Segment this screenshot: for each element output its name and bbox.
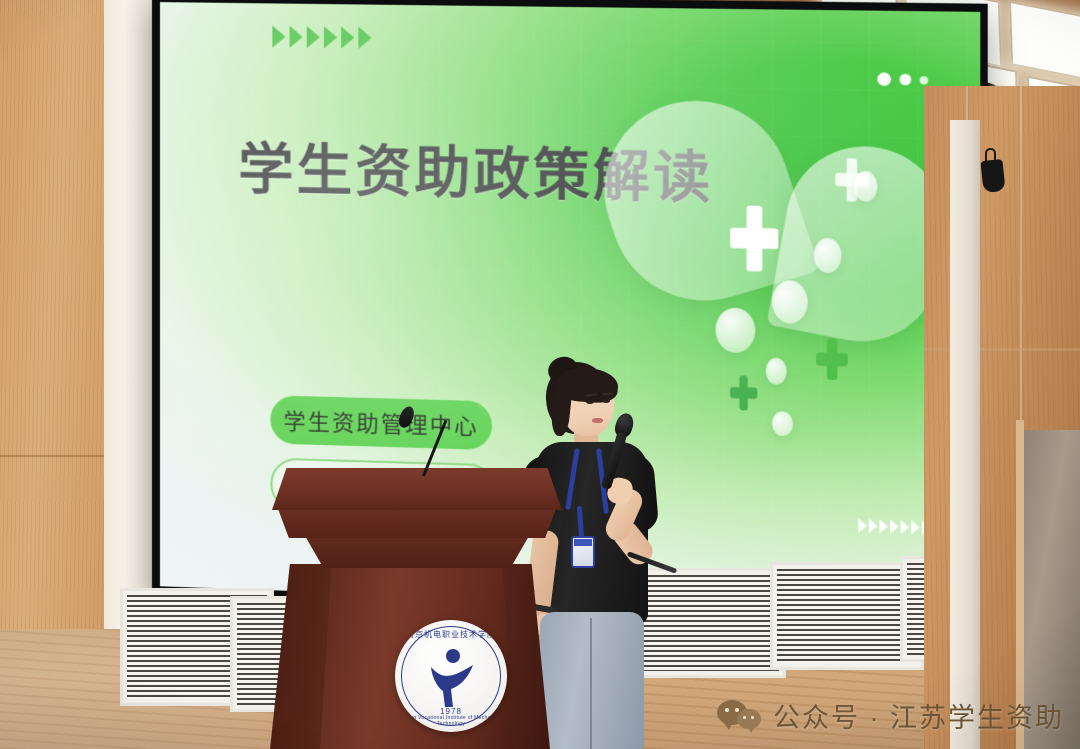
- watermark-text: 公众号 · 江苏学生资助: [773, 696, 1064, 735]
- bubble-shape: [772, 411, 793, 436]
- cross-icon: [730, 375, 757, 411]
- chevron-row-top: [272, 26, 371, 49]
- chevron-icon: [272, 26, 285, 48]
- bubble-shape: [716, 307, 756, 353]
- dot-icon: [900, 74, 912, 86]
- podium-desktop: [272, 468, 562, 510]
- dot-row: [877, 72, 928, 86]
- eye: [602, 399, 610, 403]
- chevron-icon: [307, 26, 320, 48]
- cross-icon: [816, 338, 848, 380]
- vent-slats: [777, 569, 917, 663]
- school-emblem: 南京机电职业技术学院 1978 Nanjing Vocational Insti…: [395, 620, 507, 732]
- trouser-seam: [590, 618, 592, 749]
- slide-org-pill: 学生资助管理中心: [270, 395, 492, 450]
- watermark: 公众号 · 江苏学生资助: [717, 696, 1064, 735]
- podium-lip: [268, 506, 566, 538]
- wechat-dot: [743, 716, 746, 719]
- mouth: [592, 418, 603, 423]
- presentation-photo-scene: 学生资助政策解读 学生资助管理中心 2025年5月: [0, 0, 1080, 749]
- chevron-row-bottom: [858, 518, 930, 535]
- bubble-shape: [814, 238, 841, 274]
- chevron-icon: [911, 520, 919, 535]
- podium: 南京机电职业技术学院 1978 Nanjing Vocational Insti…: [272, 468, 562, 749]
- chevron-icon: [290, 26, 303, 48]
- emblem-english-text: Nanjing Vocational Institute of Mechatro…: [395, 715, 507, 727]
- chevron-icon: [901, 520, 909, 535]
- chevron-icon: [358, 27, 371, 49]
- wechat-bubble-small: [737, 709, 761, 729]
- dot-icon: [877, 72, 891, 86]
- chevron-icon: [890, 519, 898, 534]
- id-badge: [571, 536, 595, 568]
- wechat-dot: [725, 708, 729, 712]
- right-pillar: [950, 120, 980, 749]
- emblem-figure-icon: [423, 647, 479, 709]
- emblem-chinese-text: 南京机电职业技术学院: [395, 629, 507, 640]
- wechat-dot: [751, 716, 754, 719]
- cross-icon: [730, 205, 778, 272]
- chevron-icon: [324, 26, 337, 48]
- wall-seam: [0, 455, 106, 457]
- chevron-icon: [879, 519, 887, 534]
- dot-icon: [920, 76, 928, 84]
- chevron-icon: [869, 519, 877, 534]
- chevron-icon: [858, 518, 866, 533]
- bubble-shape: [766, 358, 787, 385]
- eye: [586, 400, 594, 404]
- bubble-shape: [772, 280, 808, 324]
- bubble-shape: [854, 171, 877, 202]
- ceiling-speaker: [980, 159, 1005, 193]
- wechat-dot: [735, 708, 739, 712]
- chevron-icon: [341, 26, 354, 48]
- id-badge-header: [574, 539, 592, 546]
- podium-band: [294, 534, 540, 568]
- wechat-icon: [717, 698, 761, 734]
- wall-band: [924, 348, 1080, 351]
